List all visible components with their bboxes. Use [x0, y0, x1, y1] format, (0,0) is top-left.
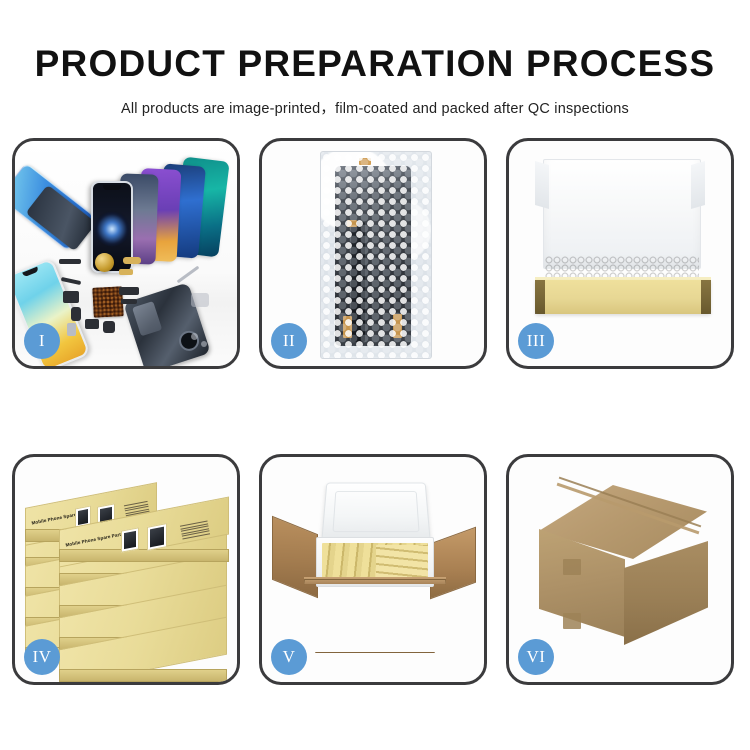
notch-cutout — [22, 267, 39, 278]
product-preparation-infographic: PRODUCT PREPARATION PROCESS All products… — [0, 0, 750, 750]
styrofoam-lid — [321, 483, 430, 541]
step-panel-1[interactable]: I — [12, 138, 240, 369]
carton-body — [304, 579, 446, 653]
bubble-wrap-bag — [320, 151, 432, 359]
step-badge-5: V — [271, 639, 307, 675]
packed-boxes-row — [376, 545, 428, 579]
process-step-grid: I II — [12, 138, 738, 694]
sealed-carton — [527, 485, 719, 655]
gold-component — [95, 253, 114, 272]
step-panel-5[interactable]: V — [259, 454, 487, 685]
small-module-part — [63, 291, 79, 303]
flex-cable-part — [119, 287, 139, 295]
tool-handle — [191, 293, 209, 307]
camera-module-part — [85, 319, 99, 329]
step-badge-3: III — [518, 323, 554, 359]
screw-part — [201, 341, 207, 347]
list-item — [59, 633, 227, 682]
screen-wallpaper-burst — [95, 212, 129, 246]
flex-cable-part — [59, 259, 81, 264]
flex-cable-part — [121, 299, 137, 304]
step-panel-6[interactable]: VI — [506, 454, 734, 685]
gold-connector-part — [119, 269, 133, 275]
screw-part — [191, 333, 198, 340]
bubble-texture — [321, 152, 431, 358]
kraft-box-base — [535, 280, 711, 314]
step-badge-6: VI — [518, 639, 554, 675]
step-panel-2[interactable]: II — [259, 138, 487, 369]
header: PRODUCT PREPARATION PROCESS All products… — [0, 0, 750, 118]
page-subtitle: All products are image-printed，film-coat… — [0, 82, 750, 118]
box-side-face — [59, 549, 229, 562]
speaker-part — [71, 307, 81, 321]
step-panel-3[interactable]: III — [506, 138, 734, 369]
box-side-face — [59, 669, 227, 682]
tape-patch — [563, 559, 581, 575]
gold-connector-part — [123, 257, 141, 264]
product-window — [147, 523, 167, 551]
list-item: Mobile Phone Spare Parts — [59, 513, 229, 569]
page-title: PRODUCT PREPARATION PROCESS — [0, 0, 750, 82]
lid-flap-right — [691, 161, 705, 209]
tape-patch — [563, 613, 581, 629]
foam-lid-panel — [543, 159, 701, 269]
sim-tray-part — [67, 323, 76, 336]
box-stack: Mobile Phone Spare Parts Mobile Phone Sp… — [23, 481, 235, 671]
step-badge-4: IV — [24, 639, 60, 675]
step-badge-1: I — [24, 323, 60, 359]
notch-cutout — [103, 185, 121, 190]
vibrator-part — [103, 321, 115, 333]
product-window — [121, 527, 139, 552]
lid-flap-left — [535, 161, 549, 209]
step-badge-2: II — [271, 323, 307, 359]
step-panel-4[interactable]: Mobile Phone Spare Parts Mobile Phone Sp… — [12, 454, 240, 685]
